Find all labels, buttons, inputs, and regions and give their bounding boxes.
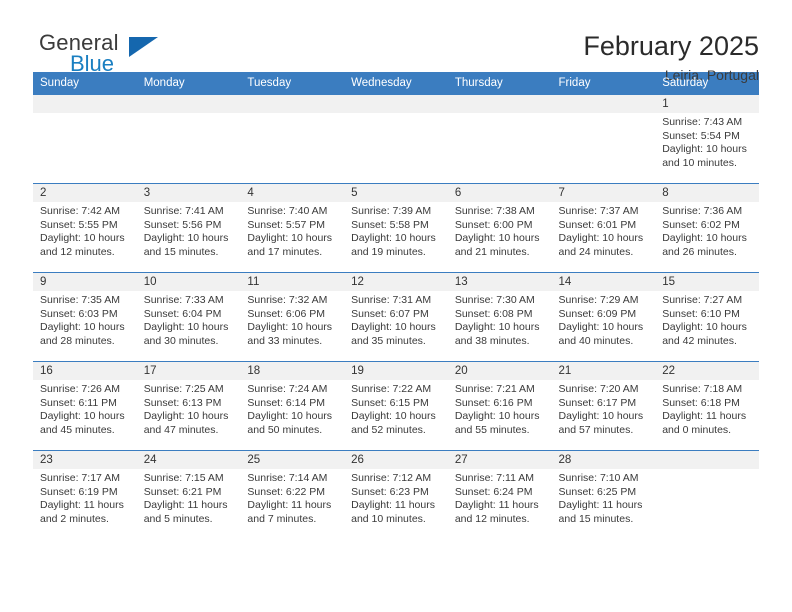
sunset-text: Sunset: 5:57 PM xyxy=(247,219,338,233)
sunrise-text: Sunrise: 7:39 AM xyxy=(351,205,442,219)
daylight-text: Daylight: 10 hours and 40 minutes. xyxy=(559,321,650,348)
day-details: Sunrise: 7:12 AMSunset: 6:23 PMDaylight:… xyxy=(344,469,448,526)
sunset-text: Sunset: 6:02 PM xyxy=(662,219,753,233)
day-number xyxy=(552,95,656,113)
day-details: Sunrise: 7:17 AMSunset: 6:19 PMDaylight:… xyxy=(33,469,137,526)
daylight-text: Daylight: 10 hours and 10 minutes. xyxy=(662,143,753,170)
day-number: 10 xyxy=(137,273,241,291)
brand-logo[interactable]: General Blue xyxy=(33,30,239,82)
calendar-day-cell[interactable]: 8Sunrise: 7:36 AMSunset: 6:02 PMDaylight… xyxy=(655,184,759,273)
sunrise-text: Sunrise: 7:12 AM xyxy=(351,472,442,486)
calendar-day-cell-empty xyxy=(448,95,552,184)
daylight-text: Daylight: 10 hours and 47 minutes. xyxy=(144,410,235,437)
sunset-text: Sunset: 5:54 PM xyxy=(662,130,753,144)
day-number xyxy=(240,95,344,113)
calendar-day-cell[interactable]: 14Sunrise: 7:29 AMSunset: 6:09 PMDayligh… xyxy=(552,273,656,362)
calendar-day-cell-empty xyxy=(240,95,344,184)
daylight-text: Daylight: 10 hours and 35 minutes. xyxy=(351,321,442,348)
calendar-day-cell[interactable]: 3Sunrise: 7:41 AMSunset: 5:56 PMDaylight… xyxy=(137,184,241,273)
day-details: Sunrise: 7:26 AMSunset: 6:11 PMDaylight:… xyxy=(33,380,137,437)
triangle-logo-icon xyxy=(129,37,158,57)
sunset-text: Sunset: 6:10 PM xyxy=(662,308,753,322)
daylight-text: Daylight: 10 hours and 52 minutes. xyxy=(351,410,442,437)
calendar-day-cell-empty xyxy=(552,95,656,184)
day-details: Sunrise: 7:15 AMSunset: 6:21 PMDaylight:… xyxy=(137,469,241,526)
weekday-header-wednesday: Wednesday xyxy=(344,72,448,95)
day-number: 19 xyxy=(344,362,448,380)
day-number: 21 xyxy=(552,362,656,380)
calendar-day-cell[interactable]: 18Sunrise: 7:24 AMSunset: 6:14 PMDayligh… xyxy=(240,362,344,451)
calendar-week-row: 1Sunrise: 7:43 AMSunset: 5:54 PMDaylight… xyxy=(33,95,759,184)
day-number: 28 xyxy=(552,451,656,469)
daylight-text: Daylight: 10 hours and 12 minutes. xyxy=(40,232,131,259)
sunrise-text: Sunrise: 7:38 AM xyxy=(455,205,546,219)
daylight-text: Daylight: 10 hours and 24 minutes. xyxy=(559,232,650,259)
sunrise-text: Sunrise: 7:33 AM xyxy=(144,294,235,308)
daylight-text: Daylight: 10 hours and 45 minutes. xyxy=(40,410,131,437)
sunset-text: Sunset: 6:00 PM xyxy=(455,219,546,233)
sunset-text: Sunset: 6:17 PM xyxy=(559,397,650,411)
sunset-text: Sunset: 5:58 PM xyxy=(351,219,442,233)
calendar-day-cell-empty xyxy=(33,95,137,184)
sunset-text: Sunset: 6:07 PM xyxy=(351,308,442,322)
day-details: Sunrise: 7:42 AMSunset: 5:55 PMDaylight:… xyxy=(33,202,137,259)
sunset-text: Sunset: 6:13 PM xyxy=(144,397,235,411)
sunset-text: Sunset: 6:23 PM xyxy=(351,486,442,500)
calendar-grid: Sunday Monday Tuesday Wednesday Thursday… xyxy=(33,72,759,540)
daylight-text: Daylight: 10 hours and 19 minutes. xyxy=(351,232,442,259)
sunset-text: Sunset: 5:56 PM xyxy=(144,219,235,233)
day-number: 14 xyxy=(552,273,656,291)
daylight-text: Daylight: 11 hours and 2 minutes. xyxy=(40,499,131,526)
sunrise-text: Sunrise: 7:30 AM xyxy=(455,294,546,308)
sunset-text: Sunset: 6:01 PM xyxy=(559,219,650,233)
day-number: 11 xyxy=(240,273,344,291)
sunset-text: Sunset: 6:03 PM xyxy=(40,308,131,322)
daylight-text: Daylight: 10 hours and 33 minutes. xyxy=(247,321,338,348)
day-details: Sunrise: 7:18 AMSunset: 6:18 PMDaylight:… xyxy=(655,380,759,437)
day-number: 27 xyxy=(448,451,552,469)
calendar-day-cell[interactable]: 9Sunrise: 7:35 AMSunset: 6:03 PMDaylight… xyxy=(33,273,137,362)
daylight-text: Daylight: 10 hours and 17 minutes. xyxy=(247,232,338,259)
day-number: 15 xyxy=(655,273,759,291)
day-details: Sunrise: 7:43 AMSunset: 5:54 PMDaylight:… xyxy=(655,113,759,170)
calendar-week-row: 16Sunrise: 7:26 AMSunset: 6:11 PMDayligh… xyxy=(33,362,759,451)
sunrise-text: Sunrise: 7:24 AM xyxy=(247,383,338,397)
page-title: February 2025 xyxy=(583,31,759,62)
sunrise-text: Sunrise: 7:37 AM xyxy=(559,205,650,219)
daylight-text: Daylight: 11 hours and 0 minutes. xyxy=(662,410,753,437)
calendar-day-cell[interactable]: 21Sunrise: 7:20 AMSunset: 6:17 PMDayligh… xyxy=(552,362,656,451)
calendar-day-cell[interactable]: 28Sunrise: 7:10 AMSunset: 6:25 PMDayligh… xyxy=(552,451,656,540)
sunrise-text: Sunrise: 7:20 AM xyxy=(559,383,650,397)
day-details: Sunrise: 7:40 AMSunset: 5:57 PMDaylight:… xyxy=(240,202,344,259)
sunrise-text: Sunrise: 7:21 AM xyxy=(455,383,546,397)
calendar-day-cell[interactable]: 17Sunrise: 7:25 AMSunset: 6:13 PMDayligh… xyxy=(137,362,241,451)
sunset-text: Sunset: 6:24 PM xyxy=(455,486,546,500)
sunset-text: Sunset: 6:25 PM xyxy=(559,486,650,500)
calendar-page: General Blue February 2025 Leiria, Portu… xyxy=(0,0,792,612)
day-number: 16 xyxy=(33,362,137,380)
daylight-text: Daylight: 11 hours and 10 minutes. xyxy=(351,499,442,526)
day-number: 1 xyxy=(655,95,759,113)
day-number: 26 xyxy=(344,451,448,469)
day-number: 18 xyxy=(240,362,344,380)
daylight-text: Daylight: 11 hours and 12 minutes. xyxy=(455,499,546,526)
day-number: 8 xyxy=(655,184,759,202)
sunrise-text: Sunrise: 7:25 AM xyxy=(144,383,235,397)
daylight-text: Daylight: 10 hours and 50 minutes. xyxy=(247,410,338,437)
daylight-text: Daylight: 11 hours and 15 minutes. xyxy=(559,499,650,526)
calendar-day-cell[interactable]: 5Sunrise: 7:39 AMSunset: 5:58 PMDaylight… xyxy=(344,184,448,273)
sunrise-text: Sunrise: 7:35 AM xyxy=(40,294,131,308)
calendar-week-row: 9Sunrise: 7:35 AMSunset: 6:03 PMDaylight… xyxy=(33,273,759,362)
sunset-text: Sunset: 6:09 PM xyxy=(559,308,650,322)
day-details: Sunrise: 7:27 AMSunset: 6:10 PMDaylight:… xyxy=(655,291,759,348)
calendar-day-cell[interactable]: 16Sunrise: 7:26 AMSunset: 6:11 PMDayligh… xyxy=(33,362,137,451)
sunrise-text: Sunrise: 7:40 AM xyxy=(247,205,338,219)
sunrise-text: Sunrise: 7:41 AM xyxy=(144,205,235,219)
sunrise-text: Sunrise: 7:32 AM xyxy=(247,294,338,308)
calendar-day-cell[interactable]: 20Sunrise: 7:21 AMSunset: 6:16 PMDayligh… xyxy=(448,362,552,451)
sunset-text: Sunset: 5:55 PM xyxy=(40,219,131,233)
sunrise-text: Sunrise: 7:29 AM xyxy=(559,294,650,308)
sunset-text: Sunset: 6:22 PM xyxy=(247,486,338,500)
day-details: Sunrise: 7:11 AMSunset: 6:24 PMDaylight:… xyxy=(448,469,552,526)
sunset-text: Sunset: 6:14 PM xyxy=(247,397,338,411)
sunrise-text: Sunrise: 7:15 AM xyxy=(144,472,235,486)
day-number: 23 xyxy=(33,451,137,469)
sunset-text: Sunset: 6:16 PM xyxy=(455,397,546,411)
calendar-day-cell-empty xyxy=(344,95,448,184)
sunrise-text: Sunrise: 7:36 AM xyxy=(662,205,753,219)
sunrise-text: Sunrise: 7:10 AM xyxy=(559,472,650,486)
day-details: Sunrise: 7:25 AMSunset: 6:13 PMDaylight:… xyxy=(137,380,241,437)
sunrise-text: Sunrise: 7:17 AM xyxy=(40,472,131,486)
daylight-text: Daylight: 11 hours and 5 minutes. xyxy=(144,499,235,526)
day-number xyxy=(33,95,137,113)
sunrise-text: Sunrise: 7:31 AM xyxy=(351,294,442,308)
daylight-text: Daylight: 10 hours and 57 minutes. xyxy=(559,410,650,437)
day-number: 5 xyxy=(344,184,448,202)
calendar-day-cell[interactable]: 12Sunrise: 7:31 AMSunset: 6:07 PMDayligh… xyxy=(344,273,448,362)
sunrise-text: Sunrise: 7:14 AM xyxy=(247,472,338,486)
sunset-text: Sunset: 6:11 PM xyxy=(40,397,131,411)
sunrise-text: Sunrise: 7:42 AM xyxy=(40,205,131,219)
sunrise-text: Sunrise: 7:11 AM xyxy=(455,472,546,486)
day-number: 17 xyxy=(137,362,241,380)
day-details: Sunrise: 7:38 AMSunset: 6:00 PMDaylight:… xyxy=(448,202,552,259)
calendar-day-cell[interactable]: 10Sunrise: 7:33 AMSunset: 6:04 PMDayligh… xyxy=(137,273,241,362)
daylight-text: Daylight: 10 hours and 42 minutes. xyxy=(662,321,753,348)
sunrise-text: Sunrise: 7:22 AM xyxy=(351,383,442,397)
day-number: 9 xyxy=(33,273,137,291)
calendar-day-cell[interactable]: 15Sunrise: 7:27 AMSunset: 6:10 PMDayligh… xyxy=(655,273,759,362)
day-number: 7 xyxy=(552,184,656,202)
day-details: Sunrise: 7:29 AMSunset: 6:09 PMDaylight:… xyxy=(552,291,656,348)
day-details: Sunrise: 7:21 AMSunset: 6:16 PMDaylight:… xyxy=(448,380,552,437)
day-number: 4 xyxy=(240,184,344,202)
sunrise-text: Sunrise: 7:26 AM xyxy=(40,383,131,397)
daylight-text: Daylight: 10 hours and 28 minutes. xyxy=(40,321,131,348)
day-details: Sunrise: 7:39 AMSunset: 5:58 PMDaylight:… xyxy=(344,202,448,259)
daylight-text: Daylight: 10 hours and 38 minutes. xyxy=(455,321,546,348)
day-number: 24 xyxy=(137,451,241,469)
calendar-day-cell[interactable]: 4Sunrise: 7:40 AMSunset: 5:57 PMDaylight… xyxy=(240,184,344,273)
calendar-day-cell[interactable]: 25Sunrise: 7:14 AMSunset: 6:22 PMDayligh… xyxy=(240,451,344,540)
day-number xyxy=(137,95,241,113)
sunset-text: Sunset: 6:18 PM xyxy=(662,397,753,411)
calendar-day-cell-empty xyxy=(137,95,241,184)
sunset-text: Sunset: 6:04 PM xyxy=(144,308,235,322)
day-details: Sunrise: 7:24 AMSunset: 6:14 PMDaylight:… xyxy=(240,380,344,437)
day-number: 2 xyxy=(33,184,137,202)
daylight-text: Daylight: 11 hours and 7 minutes. xyxy=(247,499,338,526)
weekday-header-thursday: Thursday xyxy=(448,72,552,95)
calendar-week-row: 2Sunrise: 7:42 AMSunset: 5:55 PMDaylight… xyxy=(33,184,759,273)
calendar-day-cell[interactable]: 27Sunrise: 7:11 AMSunset: 6:24 PMDayligh… xyxy=(448,451,552,540)
calendar-day-cell[interactable]: 1Sunrise: 7:43 AMSunset: 5:54 PMDaylight… xyxy=(655,95,759,184)
calendar-day-cell[interactable]: 23Sunrise: 7:17 AMSunset: 6:19 PMDayligh… xyxy=(33,451,137,540)
day-details: Sunrise: 7:36 AMSunset: 6:02 PMDaylight:… xyxy=(655,202,759,259)
daylight-text: Daylight: 10 hours and 26 minutes. xyxy=(662,232,753,259)
day-details: Sunrise: 7:35 AMSunset: 6:03 PMDaylight:… xyxy=(33,291,137,348)
day-number: 22 xyxy=(655,362,759,380)
sunrise-text: Sunrise: 7:18 AM xyxy=(662,383,753,397)
calendar-day-cell-empty xyxy=(655,451,759,540)
calendar-day-cell[interactable]: 13Sunrise: 7:30 AMSunset: 6:08 PMDayligh… xyxy=(448,273,552,362)
daylight-text: Daylight: 10 hours and 21 minutes. xyxy=(455,232,546,259)
day-number: 25 xyxy=(240,451,344,469)
sunset-text: Sunset: 6:19 PM xyxy=(40,486,131,500)
sunrise-text: Sunrise: 7:43 AM xyxy=(662,116,753,130)
day-number: 6 xyxy=(448,184,552,202)
sunset-text: Sunset: 6:08 PM xyxy=(455,308,546,322)
sunset-text: Sunset: 6:06 PM xyxy=(247,308,338,322)
calendar-day-cell[interactable]: 19Sunrise: 7:22 AMSunset: 6:15 PMDayligh… xyxy=(344,362,448,451)
calendar-day-cell[interactable]: 26Sunrise: 7:12 AMSunset: 6:23 PMDayligh… xyxy=(344,451,448,540)
daylight-text: Daylight: 10 hours and 15 minutes. xyxy=(144,232,235,259)
calendar-day-cell[interactable]: 11Sunrise: 7:32 AMSunset: 6:06 PMDayligh… xyxy=(240,273,344,362)
calendar-week-row: 23Sunrise: 7:17 AMSunset: 6:19 PMDayligh… xyxy=(33,451,759,540)
day-number: 20 xyxy=(448,362,552,380)
calendar-day-cell[interactable]: 6Sunrise: 7:38 AMSunset: 6:00 PMDaylight… xyxy=(448,184,552,273)
daylight-text: Daylight: 10 hours and 55 minutes. xyxy=(455,410,546,437)
sunset-text: Sunset: 6:21 PM xyxy=(144,486,235,500)
day-number: 12 xyxy=(344,273,448,291)
calendar-day-cell[interactable]: 7Sunrise: 7:37 AMSunset: 6:01 PMDaylight… xyxy=(552,184,656,273)
day-details: Sunrise: 7:37 AMSunset: 6:01 PMDaylight:… xyxy=(552,202,656,259)
calendar-day-cell[interactable]: 22Sunrise: 7:18 AMSunset: 6:18 PMDayligh… xyxy=(655,362,759,451)
day-number xyxy=(655,451,759,469)
calendar-body: 1Sunrise: 7:43 AMSunset: 5:54 PMDaylight… xyxy=(33,95,759,540)
page-header: General Blue February 2025 Leiria, Portu… xyxy=(33,0,759,68)
day-details: Sunrise: 7:22 AMSunset: 6:15 PMDaylight:… xyxy=(344,380,448,437)
day-details: Sunrise: 7:33 AMSunset: 6:04 PMDaylight:… xyxy=(137,291,241,348)
calendar-day-cell[interactable]: 24Sunrise: 7:15 AMSunset: 6:21 PMDayligh… xyxy=(137,451,241,540)
day-number: 13 xyxy=(448,273,552,291)
day-details: Sunrise: 7:30 AMSunset: 6:08 PMDaylight:… xyxy=(448,291,552,348)
day-details: Sunrise: 7:14 AMSunset: 6:22 PMDaylight:… xyxy=(240,469,344,526)
daylight-text: Daylight: 10 hours and 30 minutes. xyxy=(144,321,235,348)
day-details: Sunrise: 7:20 AMSunset: 6:17 PMDaylight:… xyxy=(552,380,656,437)
day-number xyxy=(344,95,448,113)
sunrise-text: Sunrise: 7:27 AM xyxy=(662,294,753,308)
day-number: 3 xyxy=(137,184,241,202)
day-number xyxy=(448,95,552,113)
day-details: Sunrise: 7:32 AMSunset: 6:06 PMDaylight:… xyxy=(240,291,344,348)
day-details: Sunrise: 7:10 AMSunset: 6:25 PMDaylight:… xyxy=(552,469,656,526)
day-details: Sunrise: 7:41 AMSunset: 5:56 PMDaylight:… xyxy=(137,202,241,259)
sunset-text: Sunset: 6:15 PM xyxy=(351,397,442,411)
calendar-day-cell[interactable]: 2Sunrise: 7:42 AMSunset: 5:55 PMDaylight… xyxy=(33,184,137,273)
day-details: Sunrise: 7:31 AMSunset: 6:07 PMDaylight:… xyxy=(344,291,448,348)
weekday-header-tuesday: Tuesday xyxy=(240,72,344,95)
